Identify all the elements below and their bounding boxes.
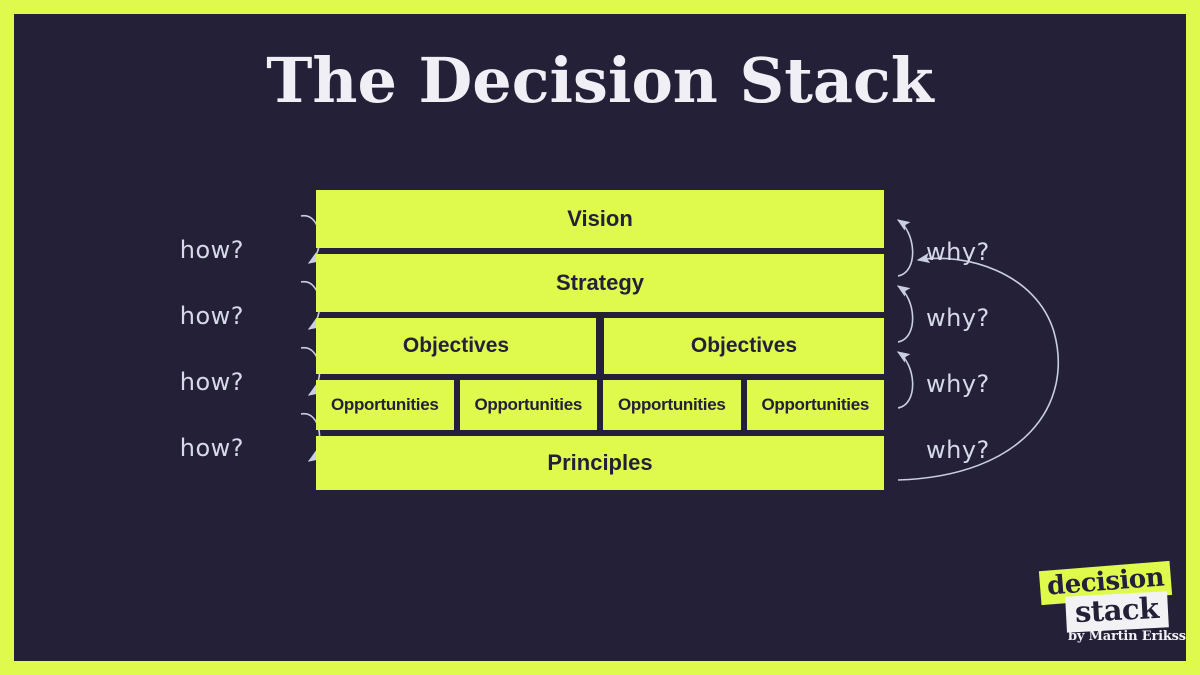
logo-word-stack: stack: [1065, 591, 1169, 632]
stack-row-opportunities: Opportunities Opportunities Opportunitie…: [316, 380, 884, 430]
slide-canvas: The Decision Stack: [14, 14, 1186, 661]
label-how-1: how?: [124, 236, 244, 264]
stack-block-objectives-1[interactable]: Objectives: [316, 318, 596, 374]
brand-logo[interactable]: decision stack by Martin Eriksson: [1036, 562, 1186, 652]
slide-frame: The Decision Stack: [0, 0, 1200, 675]
label-how-3: how?: [124, 368, 244, 396]
stack-block-principles[interactable]: Principles: [316, 436, 884, 490]
stack-block-opportunities-1[interactable]: Opportunities: [316, 380, 454, 430]
stack-block-opportunities-2[interactable]: Opportunities: [460, 380, 598, 430]
stack-block-objectives-2[interactable]: Objectives: [604, 318, 884, 374]
stack-row-strategy: Strategy: [316, 254, 884, 312]
stack-block-opportunities-4[interactable]: Opportunities: [747, 380, 885, 430]
stack-row-vision: Vision: [316, 190, 884, 248]
label-why-3: why?: [926, 370, 990, 398]
page-title: The Decision Stack: [14, 50, 1186, 112]
decision-stack: Vision Strategy Objectives Objectives Op…: [316, 190, 884, 490]
stack-block-strategy[interactable]: Strategy: [316, 254, 884, 312]
label-how-4: how?: [124, 434, 244, 462]
label-how-2: how?: [124, 302, 244, 330]
stack-block-vision[interactable]: Vision: [316, 190, 884, 248]
label-why-2: why?: [926, 304, 990, 332]
logo-byline: by Martin Eriksson: [1068, 630, 1186, 643]
stack-block-opportunities-3[interactable]: Opportunities: [603, 380, 741, 430]
stack-row-objectives: Objectives Objectives: [316, 318, 884, 374]
stack-row-principles: Principles: [316, 436, 884, 490]
label-why-4: why?: [926, 436, 990, 464]
label-why-1: why?: [926, 238, 990, 266]
